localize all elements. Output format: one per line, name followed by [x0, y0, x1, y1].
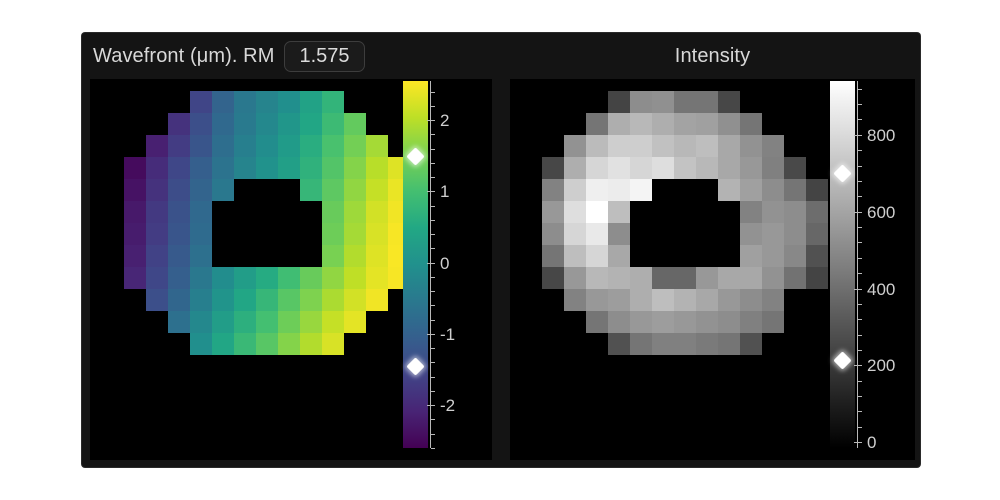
heatmap-cell: [630, 157, 652, 179]
heatmap-cell: [718, 91, 740, 113]
colorbar-minor-tick: [858, 350, 862, 351]
heatmap-cell: [740, 245, 762, 267]
colorbar-minor-tick: [431, 419, 435, 420]
heatmap-cell: [366, 223, 388, 245]
colorbar-minor-tick: [431, 320, 435, 321]
heatmap-cell: [784, 267, 806, 289]
heatmap-cell: [542, 245, 564, 267]
heatmap-cell: [586, 135, 608, 157]
colorbar-minor-tick: [858, 335, 862, 336]
colorbar-major-tick: [854, 212, 862, 213]
heatmap-cell: [190, 333, 212, 355]
heatmap-cell: [762, 201, 784, 223]
heatmap-cell: [718, 333, 740, 355]
colorbar-axis: [430, 81, 431, 448]
heatmap-cell: [190, 135, 212, 157]
heatmap-cell: [564, 179, 586, 201]
heatmap-cell: [542, 179, 564, 201]
wavefront-sensor-window: Wavefront (μm). RM 1.575 210-1-2 Intensi…: [82, 33, 920, 467]
colorbar-minor-tick: [858, 150, 862, 151]
panel-intensity-header: Intensity: [505, 33, 920, 79]
heatmap-cell: [344, 267, 366, 289]
panel-intensity: Intensity 8006004002000: [505, 33, 920, 467]
heatmap-cell: [608, 223, 630, 245]
heatmap-cell: [762, 157, 784, 179]
heatmap-cell: [696, 267, 718, 289]
colorbar-minor-tick: [858, 319, 862, 320]
heatmap-cell: [256, 157, 278, 179]
colorbar-tick-label: 1: [440, 183, 449, 200]
heatmap-cell: [366, 289, 388, 311]
heatmap-cell: [344, 113, 366, 135]
heatmap-cell: [366, 179, 388, 201]
heatmap-cell: [168, 311, 190, 333]
heatmap-cell: [608, 201, 630, 223]
heatmap-cell: [212, 311, 234, 333]
heatmap-cell: [586, 245, 608, 267]
heatmap-cell: [652, 91, 674, 113]
heatmap-cell: [608, 311, 630, 333]
heatmap-cell: [652, 333, 674, 355]
heatmap-cell: [564, 223, 586, 245]
colorbar-tick-label: -2: [440, 397, 455, 414]
colorbar-tick-label: 2: [440, 112, 449, 129]
heatmap-cell: [564, 157, 586, 179]
heatmap-cell: [256, 267, 278, 289]
heatmap-cell: [300, 311, 322, 333]
heatmap-cell: [740, 333, 762, 355]
heatmap-cell: [608, 267, 630, 289]
heatmap-cell: [212, 289, 234, 311]
heatmap-cell: [740, 135, 762, 157]
heatmap-cell: [652, 113, 674, 135]
heatmap-cell: [366, 157, 388, 179]
heatmap-cell: [806, 201, 828, 223]
heatmap-cell: [234, 157, 256, 179]
heatmap-cell: [762, 267, 784, 289]
heatmap-cell: [300, 157, 322, 179]
heatmap-cell: [696, 91, 718, 113]
colorbar-minor-tick: [431, 92, 435, 93]
heatmap-cell: [564, 201, 586, 223]
colorbar-minor-tick: [431, 291, 435, 292]
heatmap-cell: [564, 135, 586, 157]
colorbar-minor-tick: [858, 104, 862, 105]
colorbar-minor-tick: [858, 166, 862, 167]
heatmap-cell: [212, 267, 234, 289]
heatmap-cell: [762, 223, 784, 245]
heatmap-cell: [146, 267, 168, 289]
colorbar-minor-tick: [431, 434, 435, 435]
heatmap-cell: [300, 333, 322, 355]
heatmap-cell: [718, 311, 740, 333]
colorbar-major-tick: [427, 334, 435, 335]
heatmap-cell: [300, 267, 322, 289]
heatmap-cell: [190, 223, 212, 245]
colorbar-minor-tick: [431, 391, 435, 392]
heatmap-cell: [146, 157, 168, 179]
colorbar-tick-label: 0: [440, 255, 449, 272]
heatmap-cell: [740, 267, 762, 289]
colorbar-minor-tick: [431, 305, 435, 306]
colorbar-minor-tick: [431, 348, 435, 349]
colorbar-major-tick: [854, 365, 862, 366]
heatmap-cell: [278, 289, 300, 311]
colorbar-minor-tick: [858, 89, 862, 90]
heatmap-cell: [674, 135, 696, 157]
colorbar-minor-tick: [858, 381, 862, 382]
heatmap-cell: [674, 91, 696, 113]
heatmap-cell: [124, 267, 146, 289]
colorbar-minor-tick: [431, 220, 435, 221]
heatmap-cell: [784, 179, 806, 201]
heatmap-cell: [124, 223, 146, 245]
heatmap-cell: [322, 311, 344, 333]
colorbar-tick-label: 0: [867, 434, 876, 451]
heatmap-cell: [608, 245, 630, 267]
heatmap-cell: [564, 289, 586, 311]
heatmap-cell: [366, 201, 388, 223]
heatmap-cell: [784, 201, 806, 223]
heatmap-cell: [630, 333, 652, 355]
heatmap-cell: [234, 135, 256, 157]
heatmap-cell: [740, 201, 762, 223]
heatmap-cell: [168, 113, 190, 135]
heatmap-cell: [256, 289, 278, 311]
heatmap-cell: [278, 113, 300, 135]
colorbar-minor-tick: [431, 277, 435, 278]
heatmap-cell: [256, 311, 278, 333]
heatmap-cell: [630, 135, 652, 157]
heatmap-cell: [146, 201, 168, 223]
heatmap-cell: [212, 91, 234, 113]
heatmap-cell: [168, 245, 190, 267]
panel-wavefront-title: Wavefront (μm). RM: [93, 45, 274, 68]
colorbar-major-tick: [427, 191, 435, 192]
heatmap-cell: [190, 113, 212, 135]
heatmap-cell: [146, 245, 168, 267]
heatmap-cell: [718, 135, 740, 157]
colorbar-gradient: [403, 81, 428, 448]
heatmap-cell: [784, 245, 806, 267]
heatmap-cell: [344, 223, 366, 245]
heatmap-cell: [234, 311, 256, 333]
heatmap-cell: [212, 157, 234, 179]
heatmap-cell: [300, 91, 322, 113]
heatmap-cell: [696, 289, 718, 311]
heatmap-cell: [322, 135, 344, 157]
heatmap-cell: [630, 289, 652, 311]
heatmap-cell: [762, 289, 784, 311]
heatmap-cell: [300, 289, 322, 311]
heatmap-cell: [784, 223, 806, 245]
colorbar-minor-tick: [431, 134, 435, 135]
colorbar-tick-label: -1: [440, 326, 455, 343]
heatmap-cell: [542, 201, 564, 223]
heatmap-cell: [168, 289, 190, 311]
heatmap-cell: [806, 267, 828, 289]
heatmap-cell: [366, 135, 388, 157]
rm-value-field[interactable]: 1.575: [284, 41, 364, 72]
heatmap-cell: [168, 201, 190, 223]
colorbar-major-tick: [427, 120, 435, 121]
colorbar-minor-tick: [431, 163, 435, 164]
heatmap-cell: [608, 179, 630, 201]
heatmap-cell: [300, 113, 322, 135]
heatmap-cell: [586, 113, 608, 135]
heatmap-cell: [278, 267, 300, 289]
heatmap-cell: [740, 311, 762, 333]
colorbar-axis: [857, 81, 858, 448]
colorbar-minor-tick: [858, 181, 862, 182]
colorbar-minor-tick: [431, 248, 435, 249]
heatmap-cell: [586, 311, 608, 333]
panel-wavefront: Wavefront (μm). RM 1.575 210-1-2: [82, 33, 500, 467]
heatmap-cell: [212, 333, 234, 355]
heatmap-cell: [124, 157, 146, 179]
colorbar-minor-tick: [431, 149, 435, 150]
heatmap-cell: [608, 113, 630, 135]
heatmap-cell: [234, 113, 256, 135]
heatmap-cell: [168, 223, 190, 245]
heatmap-cell: [652, 267, 674, 289]
panel-wavefront-header: Wavefront (μm). RM 1.575: [82, 33, 511, 79]
heatmap-cell: [652, 157, 674, 179]
heatmap-cell: [146, 289, 168, 311]
heatmap-cell: [674, 311, 696, 333]
heatmap-cell: [740, 223, 762, 245]
heatmap-cell: [718, 267, 740, 289]
heatmap-cell: [762, 311, 784, 333]
heatmap-cell: [806, 223, 828, 245]
colorbar-minor-tick: [858, 411, 862, 412]
heatmap-cell: [190, 245, 212, 267]
heatmap-cell: [190, 91, 212, 113]
heatmap-cell: [234, 91, 256, 113]
heatmap-cell: [322, 179, 344, 201]
heatmap-cell: [652, 311, 674, 333]
heatmap-cell: [300, 135, 322, 157]
heatmap-cell: [608, 333, 630, 355]
heatmap-cell: [344, 245, 366, 267]
heatmap-cell: [300, 179, 322, 201]
heatmap-cell: [586, 201, 608, 223]
heatmap-cell: [718, 157, 740, 179]
heatmap-cell: [124, 245, 146, 267]
heatmap-cell: [630, 113, 652, 135]
heatmap-cell: [234, 333, 256, 355]
heatmap-cell: [762, 179, 784, 201]
heatmap-cell: [718, 113, 740, 135]
panel-intensity-title: Intensity: [675, 45, 750, 68]
heatmap-cell: [696, 157, 718, 179]
heatmap-cell: [190, 157, 212, 179]
heatmap-cell: [212, 179, 234, 201]
intensity-plot[interactable]: 8006004002000: [510, 79, 915, 460]
heatmap-cell: [344, 157, 366, 179]
heatmap-cell: [696, 135, 718, 157]
heatmap-cell: [322, 91, 344, 113]
colorbar-minor-tick: [431, 448, 435, 449]
heatmap-cell: [168, 179, 190, 201]
heatmap-cell: [630, 267, 652, 289]
heatmap-cell: [168, 267, 190, 289]
heatmap-cell: [322, 113, 344, 135]
heatmap-cell: [696, 113, 718, 135]
heatmap-cell: [146, 179, 168, 201]
colorbar-minor-tick: [858, 227, 862, 228]
colorbar-minor-tick: [858, 427, 862, 428]
heatmap-cell: [366, 245, 388, 267]
heatmap-cell: [674, 113, 696, 135]
heatmap-cell: [190, 311, 212, 333]
heatmap-cell: [608, 135, 630, 157]
colorbar-major-tick: [854, 442, 862, 443]
heatmap-cell: [278, 157, 300, 179]
colorbar-minor-tick: [431, 377, 435, 378]
colorbar-minor-tick: [858, 258, 862, 259]
heatmap-cell: [256, 113, 278, 135]
heatmap-cell: [212, 135, 234, 157]
heatmap-cell: [586, 267, 608, 289]
heatmap-cell: [740, 113, 762, 135]
heatmap-cell: [256, 135, 278, 157]
colorbar-minor-tick: [858, 242, 862, 243]
heatmap-cell: [586, 157, 608, 179]
heatmap-cell: [278, 333, 300, 355]
heatmap-cell: [674, 289, 696, 311]
wavefront-colorbar[interactable]: 210-1-2: [403, 81, 483, 448]
intensity-colorbar[interactable]: 8006004002000: [830, 81, 910, 448]
heatmap-cell: [168, 135, 190, 157]
heatmap-cell: [344, 201, 366, 223]
heatmap-cell: [322, 289, 344, 311]
heatmap-cell: [234, 289, 256, 311]
heatmap-cell: [630, 311, 652, 333]
heatmap-cell: [344, 289, 366, 311]
heatmap-cell: [674, 333, 696, 355]
heatmap-cell: [344, 311, 366, 333]
heatmap-cell: [652, 135, 674, 157]
heatmap-cell: [124, 179, 146, 201]
heatmap-cell: [762, 135, 784, 157]
heatmap-cell: [718, 289, 740, 311]
colorbar-minor-tick: [858, 196, 862, 197]
colorbar-minor-tick: [858, 396, 862, 397]
heatmap-cell: [608, 289, 630, 311]
heatmap-cell: [190, 267, 212, 289]
heatmap-cell: [608, 157, 630, 179]
heatmap-cell: [146, 223, 168, 245]
colorbar-tick-label: 600: [867, 204, 895, 221]
heatmap-cell: [806, 245, 828, 267]
heatmap-cell: [344, 135, 366, 157]
colorbar-minor-tick: [431, 106, 435, 107]
heatmap-cell: [564, 267, 586, 289]
heatmap-cell: [278, 135, 300, 157]
colorbar-minor-tick: [431, 362, 435, 363]
heatmap-cell: [322, 333, 344, 355]
heatmap-cell: [630, 179, 652, 201]
wavefront-plot[interactable]: 210-1-2: [90, 79, 492, 460]
heatmap-cell: [718, 179, 740, 201]
colorbar-major-tick: [427, 263, 435, 264]
colorbar-minor-tick: [431, 177, 435, 178]
screenshot-root: Wavefront (μm). RM 1.575 210-1-2 Intensi…: [0, 0, 1000, 500]
heatmap-cell: [674, 157, 696, 179]
heatmap-cell: [124, 201, 146, 223]
colorbar-minor-tick: [858, 273, 862, 274]
colorbar-minor-tick: [858, 304, 862, 305]
heatmap-cell: [762, 245, 784, 267]
heatmap-cell: [674, 267, 696, 289]
heatmap-cell: [190, 289, 212, 311]
heatmap-cell: [168, 157, 190, 179]
heatmap-cell: [806, 179, 828, 201]
colorbar-minor-tick: [431, 206, 435, 207]
heatmap-cell: [564, 245, 586, 267]
colorbar-minor-tick: [431, 234, 435, 235]
heatmap-cell: [146, 135, 168, 157]
heatmap-cell: [696, 333, 718, 355]
colorbar-tick-label: 400: [867, 281, 895, 298]
heatmap-cell: [322, 157, 344, 179]
heatmap-cell: [278, 91, 300, 113]
heatmap-cell: [256, 91, 278, 113]
heatmap-cell: [542, 223, 564, 245]
heatmap-cell: [542, 157, 564, 179]
colorbar-major-tick: [427, 405, 435, 406]
colorbar-tick-label: 800: [867, 127, 895, 144]
heatmap-cell: [608, 91, 630, 113]
heatmap-cell: [366, 267, 388, 289]
heatmap-cell: [652, 289, 674, 311]
heatmap-cell: [212, 113, 234, 135]
heatmap-cell: [278, 311, 300, 333]
heatmap-cell: [740, 157, 762, 179]
colorbar-major-tick: [854, 289, 862, 290]
heatmap-cell: [740, 179, 762, 201]
heatmap-cell: [586, 179, 608, 201]
colorbar-major-tick: [854, 135, 862, 136]
heatmap-cell: [322, 245, 344, 267]
heatmap-cell: [586, 223, 608, 245]
heatmap-cell: [586, 289, 608, 311]
heatmap-cell: [256, 333, 278, 355]
heatmap-cell: [740, 289, 762, 311]
heatmap-cell: [190, 179, 212, 201]
colorbar-gradient: [830, 81, 855, 448]
colorbar-tick-label: 200: [867, 357, 895, 374]
heatmap-cell: [322, 267, 344, 289]
heatmap-cell: [234, 267, 256, 289]
heatmap-cell: [344, 179, 366, 201]
colorbar-minor-tick: [858, 119, 862, 120]
heatmap-cell: [696, 311, 718, 333]
heatmap-cell: [322, 223, 344, 245]
heatmap-cell: [542, 267, 564, 289]
heatmap-cell: [784, 157, 806, 179]
heatmap-cell: [630, 91, 652, 113]
heatmap-cell: [322, 201, 344, 223]
heatmap-cell: [190, 201, 212, 223]
